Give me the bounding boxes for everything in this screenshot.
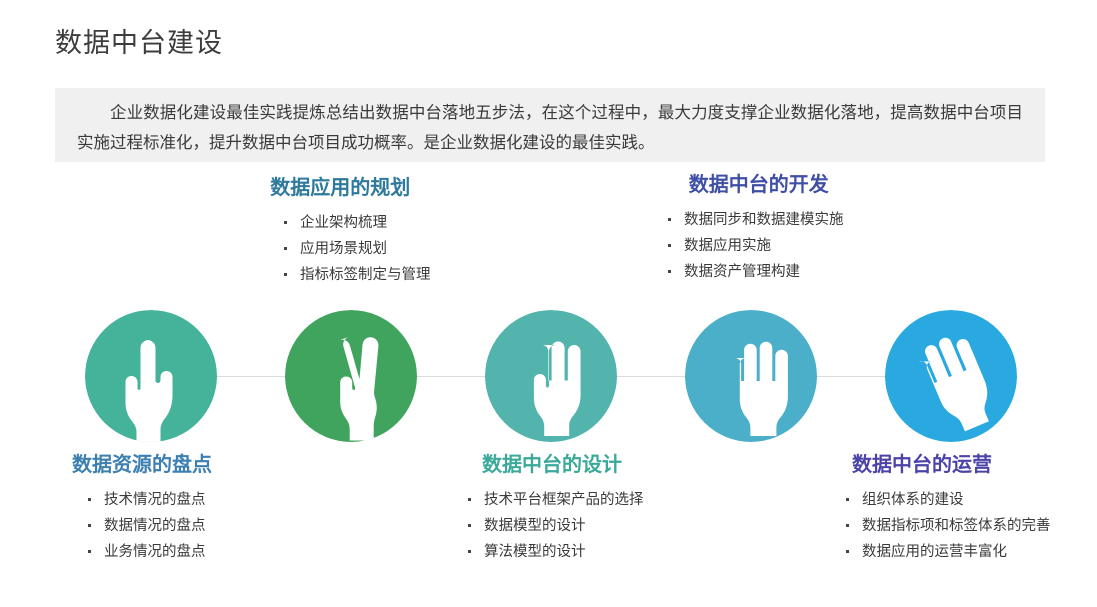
- hand-four-fingers-icon: [685, 310, 817, 442]
- list-item: 数据指标项和标签体系的完善: [842, 513, 1051, 539]
- bullet-marker-icon: [284, 247, 287, 250]
- hand-three-fingers-icon: [485, 310, 617, 442]
- hand-five-fingers-open-icon: [885, 310, 1017, 442]
- bullet-marker-icon: [88, 524, 91, 527]
- list-item-label: 企业架构梳理: [300, 215, 387, 231]
- bullet-marker-icon: [468, 550, 471, 553]
- step-circles-row: [0, 310, 1097, 445]
- step-heading-4: 数据中台的开发: [662, 172, 844, 198]
- list-item-label: 数据模型的设计: [484, 518, 586, 534]
- step-heading-3: 数据中台的设计: [462, 452, 644, 478]
- list-item-label: 数据情况的盘点: [104, 518, 206, 534]
- list-item: 数据同步和数据建模实施: [664, 207, 844, 233]
- list-item: 企业架构梳理: [280, 210, 431, 236]
- bullet-marker-icon: [846, 498, 849, 501]
- bullet-marker-icon: [668, 244, 671, 247]
- list-item: 应用场景规划: [280, 236, 431, 262]
- list-item-label: 数据资产管理构建: [684, 264, 800, 280]
- list-item-label: 算法模型的设计: [484, 544, 586, 560]
- step-circle-2[interactable]: [285, 310, 417, 442]
- step-heading-2: 数据应用的规划: [258, 175, 431, 201]
- list-item: 数据情况的盘点: [84, 513, 212, 539]
- list-item: 数据应用实施: [664, 233, 844, 259]
- list-item-label: 数据同步和数据建模实施: [684, 212, 844, 228]
- bullet-marker-icon: [88, 498, 91, 501]
- intro-panel: 企业数据化建设最佳实践提炼总结出数据中台落地五步法，在这个过程中，最大力度支撑企…: [55, 88, 1045, 162]
- bullet-marker-icon: [668, 218, 671, 221]
- bullet-marker-icon: [468, 498, 471, 501]
- list-item-label: 数据应用实施: [684, 238, 771, 254]
- step-bullets-1: 技术情况的盘点 数据情况的盘点 业务情况的盘点: [62, 487, 212, 565]
- step-block-1: 数据资源的盘点 技术情况的盘点 数据情况的盘点 业务情况的盘点: [62, 452, 212, 565]
- step-block-5: 数据中台的运营 组织体系的建设 数据指标项和标签体系的完善 数据应用的运营丰富化: [840, 452, 1051, 565]
- step-bullets-2: 企业架构梳理 应用场景规划 指标标签制定与管理: [258, 210, 431, 288]
- hand-two-fingers-icon: [285, 310, 417, 442]
- list-item-label: 业务情况的盘点: [104, 544, 206, 560]
- list-item: 技术情况的盘点: [84, 487, 212, 513]
- step-circle-3[interactable]: [485, 310, 617, 442]
- list-item: 指标标签制定与管理: [280, 262, 431, 288]
- step-heading-1: 数据资源的盘点: [62, 452, 212, 478]
- list-item-label: 数据应用的运营丰富化: [862, 544, 1007, 560]
- bullet-marker-icon: [468, 524, 471, 527]
- step-block-2: 数据应用的规划 企业架构梳理 应用场景规划 指标标签制定与管理: [258, 175, 431, 288]
- bullet-marker-icon: [284, 273, 287, 276]
- hand-one-finger-icon: [85, 310, 217, 442]
- list-item-label: 技术情况的盘点: [104, 492, 206, 508]
- list-item-label: 数据指标项和标签体系的完善: [862, 518, 1051, 534]
- list-item-label: 组织体系的建设: [862, 492, 964, 508]
- intro-paragraph: 企业数据化建设最佳实践提炼总结出数据中台落地五步法，在这个过程中，最大力度支撑企…: [77, 98, 1023, 158]
- list-item-label: 指标标签制定与管理: [300, 267, 431, 283]
- step-block-3: 数据中台的设计 技术平台框架产品的选择 数据模型的设计 算法模型的设计: [462, 452, 644, 565]
- bullet-marker-icon: [846, 524, 849, 527]
- list-item: 组织体系的建设: [842, 487, 1051, 513]
- list-item: 算法模型的设计: [464, 539, 644, 565]
- step-bullets-5: 组织体系的建设 数据指标项和标签体系的完善 数据应用的运营丰富化: [840, 487, 1051, 565]
- step-bullets-3: 技术平台框架产品的选择 数据模型的设计 算法模型的设计: [462, 487, 644, 565]
- list-item-label: 技术平台框架产品的选择: [484, 492, 644, 508]
- bullet-marker-icon: [284, 221, 287, 224]
- page-title: 数据中台建设: [55, 21, 223, 60]
- bullet-marker-icon: [846, 550, 849, 553]
- bullet-marker-icon: [88, 550, 91, 553]
- list-item: 业务情况的盘点: [84, 539, 212, 565]
- step-bullets-4: 数据同步和数据建模实施 数据应用实施 数据资产管理构建: [662, 207, 844, 285]
- step-circle-4[interactable]: [685, 310, 817, 442]
- bullet-marker-icon: [668, 270, 671, 273]
- list-item: 数据模型的设计: [464, 513, 644, 539]
- list-item-label: 应用场景规划: [300, 241, 387, 257]
- list-item: 数据资产管理构建: [664, 259, 844, 285]
- list-item: 技术平台框架产品的选择: [464, 487, 644, 513]
- step-heading-5: 数据中台的运营: [840, 452, 1051, 478]
- step-circle-1[interactable]: [85, 310, 217, 442]
- list-item: 数据应用的运营丰富化: [842, 539, 1051, 565]
- step-circle-5[interactable]: [885, 310, 1017, 442]
- step-block-4: 数据中台的开发 数据同步和数据建模实施 数据应用实施 数据资产管理构建: [662, 172, 844, 285]
